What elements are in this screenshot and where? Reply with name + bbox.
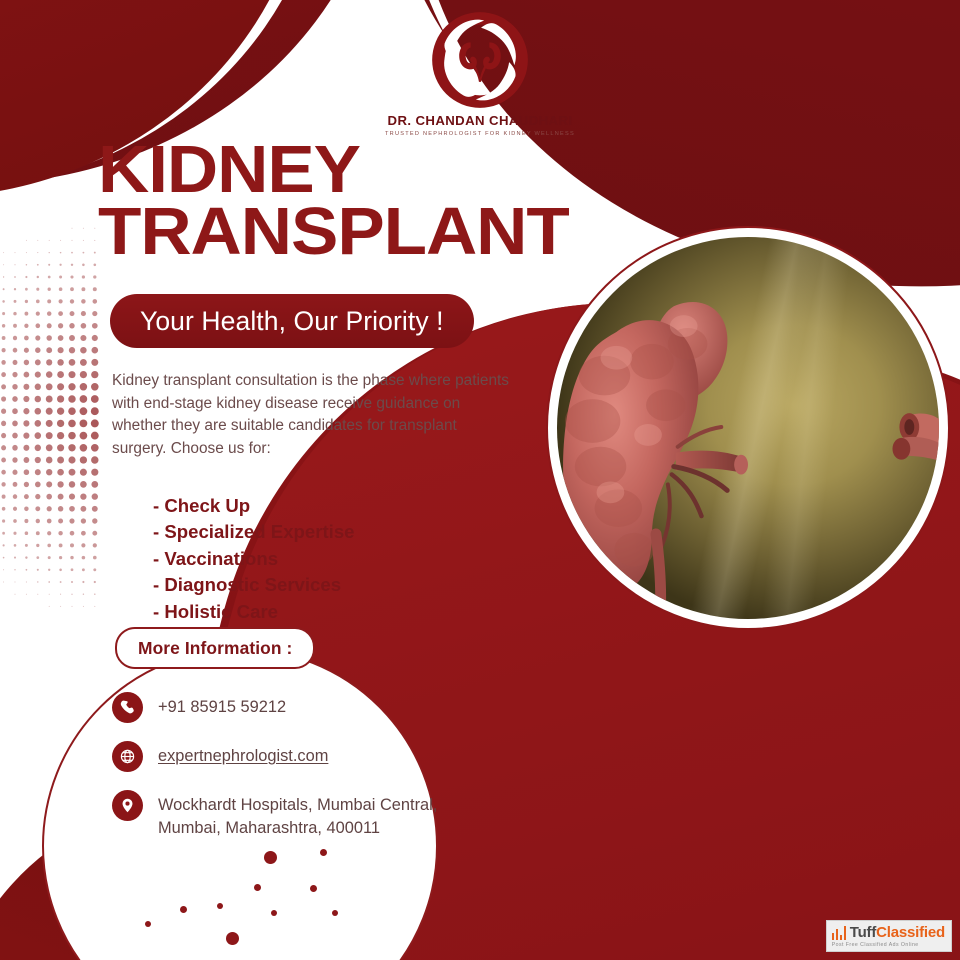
watermark-word-primary: Tuff bbox=[850, 924, 876, 941]
decorative-dot bbox=[332, 910, 338, 916]
decorative-dot bbox=[320, 849, 327, 856]
page-title: KIDNEY TRANSPLANT bbox=[98, 139, 542, 264]
decorative-dot bbox=[145, 921, 151, 927]
list-item: - Diagnostic Services bbox=[153, 572, 355, 598]
kidney-hands-circle-logo-icon bbox=[428, 8, 532, 112]
contact-row-phone[interactable]: +91 85915 59212 bbox=[112, 692, 442, 723]
tagline-badge: Your Health, Our Priority ! bbox=[110, 294, 474, 348]
globe-icon bbox=[112, 741, 143, 772]
website-link[interactable]: expertnephrologist.com bbox=[158, 741, 328, 768]
decorative-dot bbox=[254, 884, 261, 891]
watermark: TuffClassified Post Free Classified Ads … bbox=[826, 920, 952, 952]
phone-number: +91 85915 59212 bbox=[158, 692, 286, 719]
halftone-dots-decoration bbox=[0, 210, 104, 630]
kidney-anatomy-illustration-icon bbox=[557, 237, 939, 619]
contact-row-address[interactable]: Wockhardt Hospitals, Mumbai Central, Mum… bbox=[112, 790, 442, 839]
services-list: - Check Up - Specialized Expertise - Vac… bbox=[113, 493, 355, 625]
decorative-dot bbox=[310, 885, 317, 892]
hero-image-frame bbox=[546, 226, 950, 630]
headline-line-1: KIDNEY bbox=[98, 139, 569, 201]
list-item: - Holistic Care bbox=[153, 599, 355, 625]
brand-tagline: TRUSTED NEPHROLOGIST FOR KIDNEY WELLNESS bbox=[385, 131, 575, 137]
decorative-dot bbox=[264, 851, 277, 864]
brand-logo: DR. CHANDAN CHAUDHARI TRUSTED NEPHROLOGI… bbox=[385, 8, 575, 140]
bar-chart-icon bbox=[832, 925, 848, 940]
list-item: - Vaccinations bbox=[153, 546, 355, 572]
contact-details: +91 85915 59212 expertnephrologist.com bbox=[112, 692, 442, 857]
decorative-dot bbox=[271, 910, 277, 916]
decorative-dot bbox=[217, 903, 223, 909]
list-item: - Check Up bbox=[153, 493, 355, 519]
brand-name: DR. CHANDAN CHAUDHARI bbox=[385, 113, 575, 128]
poster-canvas: DR. CHANDAN CHAUDHARI TRUSTED NEPHROLOGI… bbox=[0, 0, 960, 960]
list-item: - Specialized Expertise bbox=[153, 519, 355, 545]
more-information-badge: More Information : bbox=[115, 627, 315, 669]
address-text: Wockhardt Hospitals, Mumbai Central, Mum… bbox=[158, 790, 442, 839]
description-text: Kidney transplant consultation is the ph… bbox=[112, 370, 512, 461]
location-pin-icon bbox=[112, 790, 143, 821]
watermark-word-secondary: Classified bbox=[876, 924, 945, 941]
decorative-dot bbox=[226, 932, 239, 945]
contact-row-website[interactable]: expertnephrologist.com bbox=[112, 741, 442, 772]
watermark-subtitle: Post Free Classified Ads Online bbox=[832, 942, 919, 948]
headline-line-2: TRANSPLANT bbox=[98, 201, 569, 263]
decorative-dot bbox=[180, 906, 187, 913]
phone-icon bbox=[112, 692, 143, 723]
